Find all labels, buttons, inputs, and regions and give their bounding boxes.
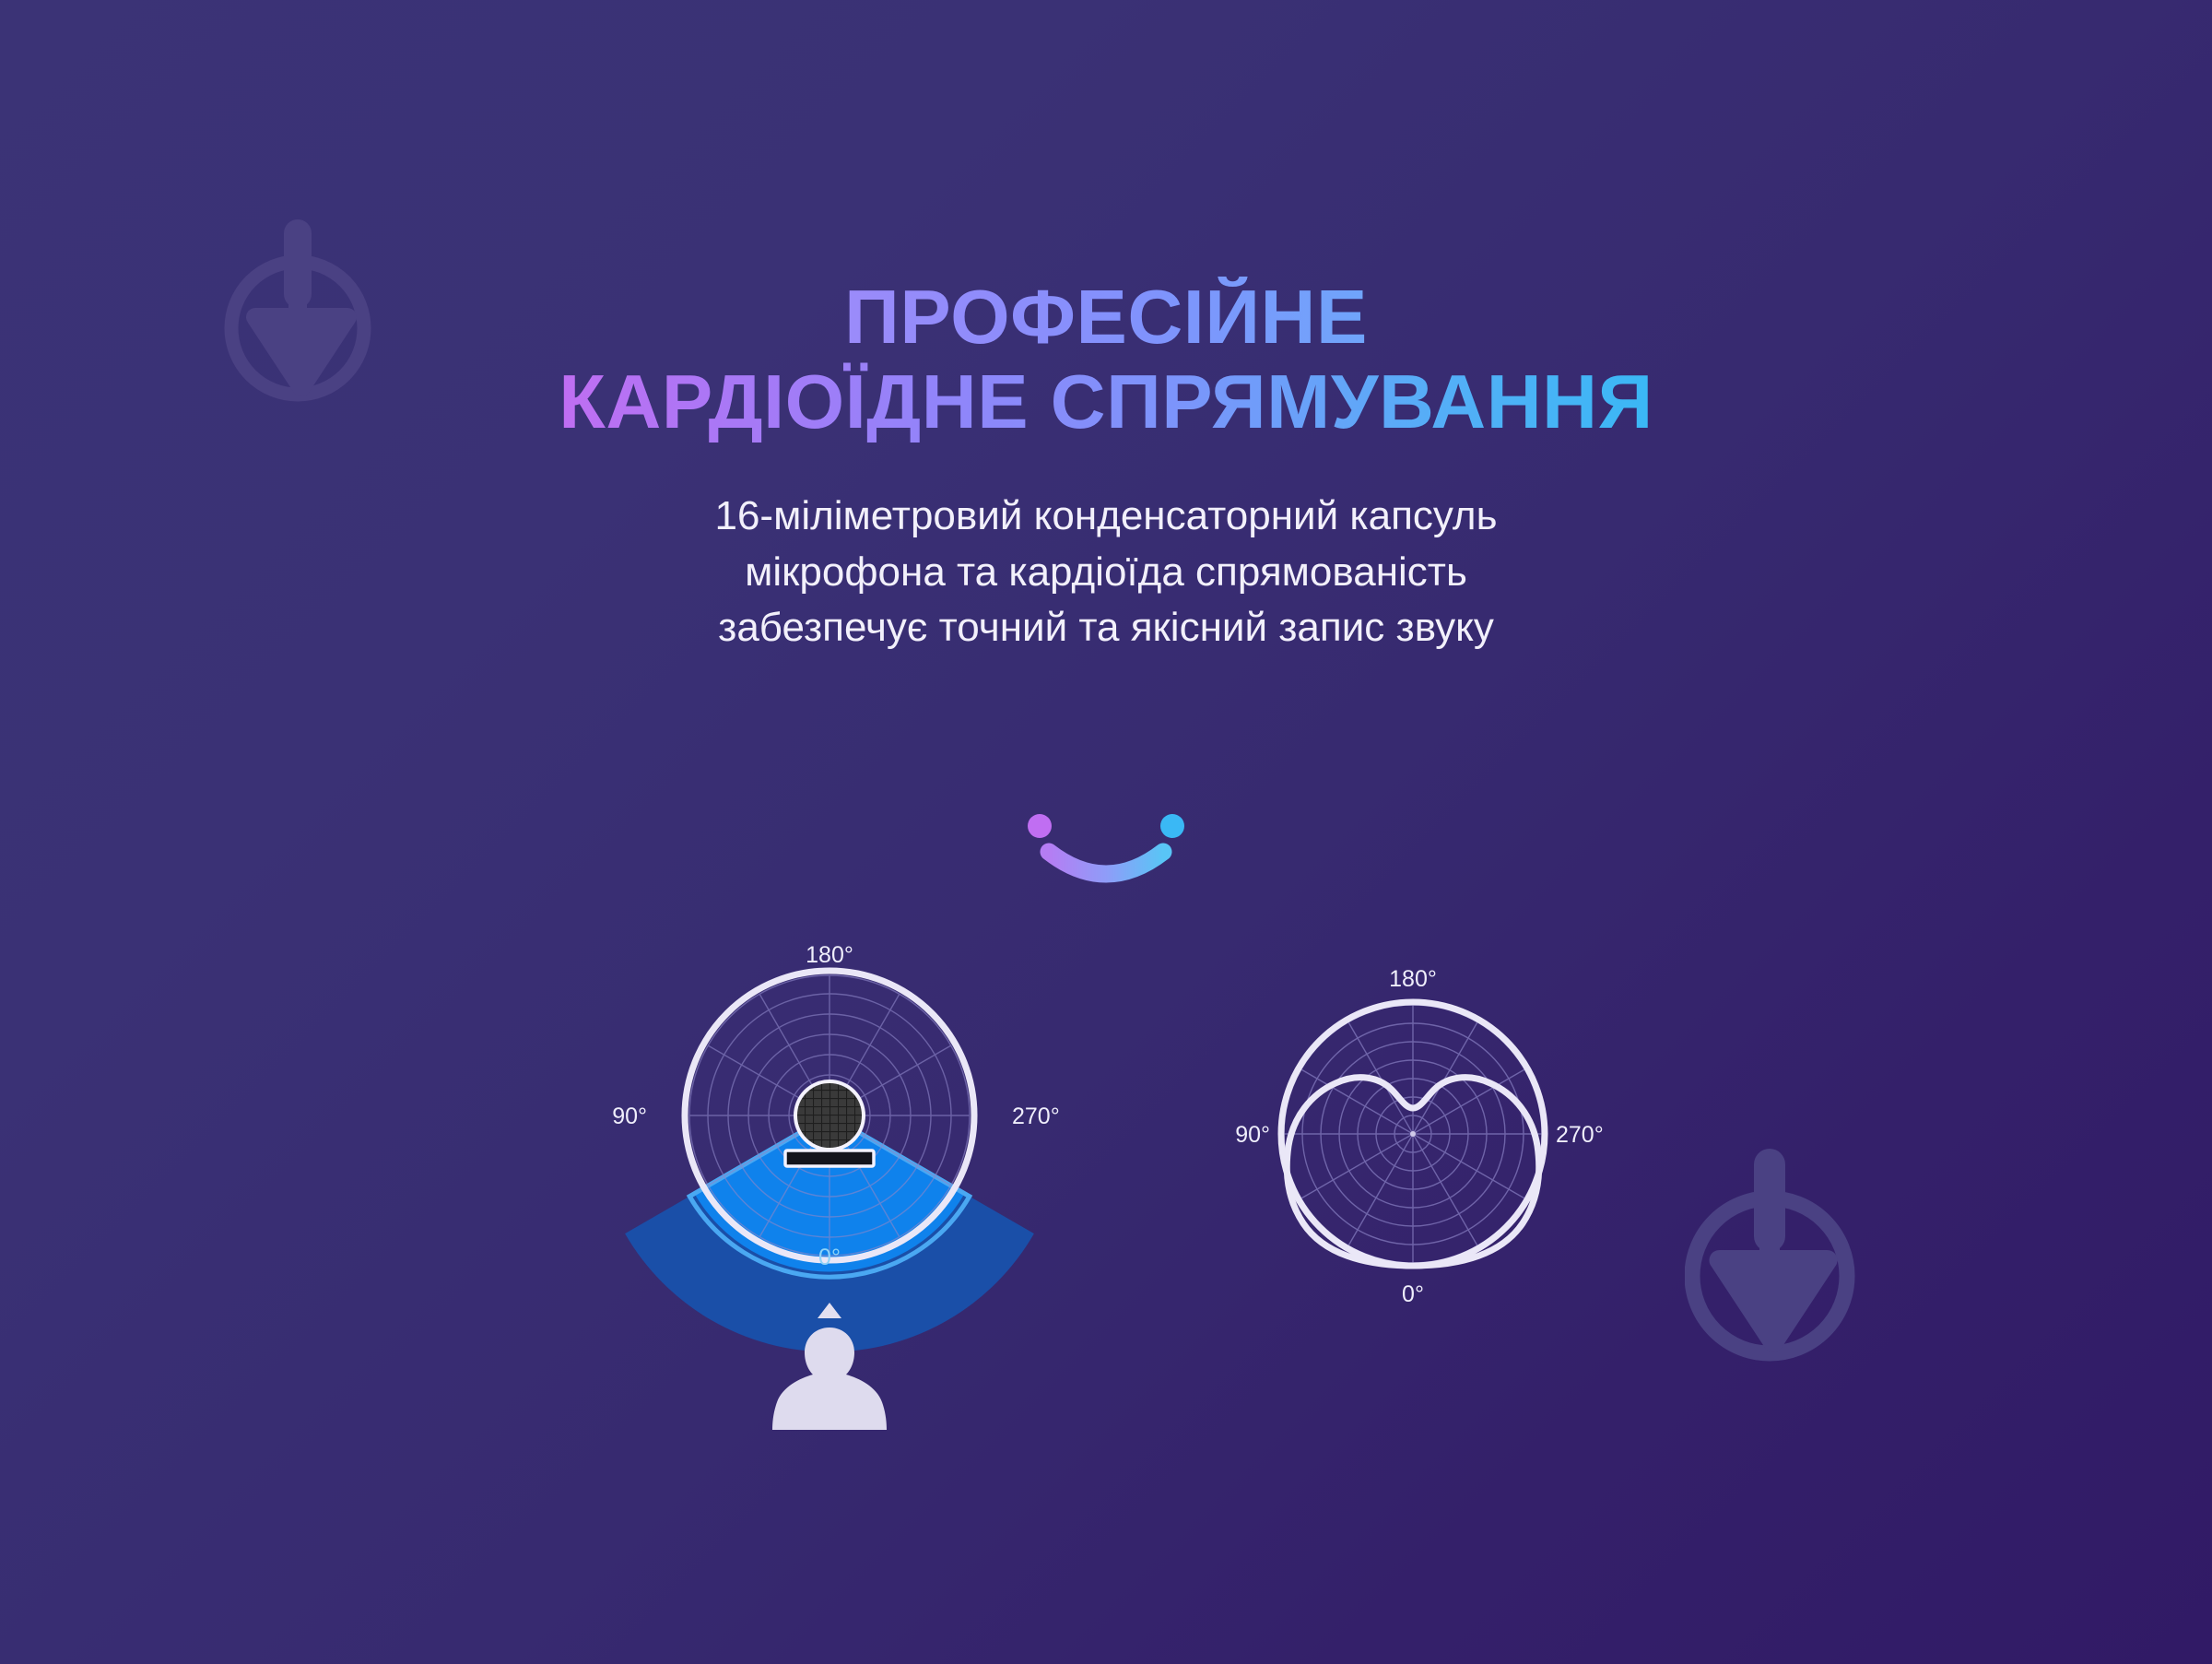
angle-label-0: 0°: [818, 1245, 841, 1270]
polar-center-dot: [1410, 1131, 1416, 1137]
page-subtitle: 16-міліметровий конденсаторний капсуль м…: [714, 489, 1497, 656]
smile-decoration: [0, 811, 2212, 885]
page-title: ПРОФЕСІЙНЕ КАРДІОЇДНЕ СПРЯМУВАННЯ: [559, 277, 1653, 443]
angle-label-180: 180°: [806, 942, 853, 968]
diagram-row: 180° 90° 270° 0°: [0, 940, 2212, 1493]
cardioid-response-diagram: 180° 90° 270° 0°: [1215, 950, 1611, 1341]
page-subtitle-line-2: мікрофона та кардіоїда спрямованість: [714, 545, 1497, 601]
pickup-beam-diagram: 180° 90° 270° 0°: [581, 940, 1078, 1498]
smile-dot-right: [1160, 814, 1184, 838]
smile-arc-path: [1049, 852, 1163, 874]
angle-label-90: 90°: [1235, 1122, 1270, 1148]
page-title-line-1: ПРОФЕСІЙНЕ: [844, 277, 1368, 358]
angle-label-90: 90°: [612, 1103, 647, 1129]
angle-label-0: 0°: [1402, 1281, 1424, 1307]
smile-dot-left: [1028, 814, 1052, 838]
angle-label-270: 270°: [1556, 1122, 1604, 1148]
mic-capsule: [795, 1081, 864, 1150]
angle-label-270: 270°: [1012, 1103, 1060, 1129]
header-block: ПРОФЕСІЙНЕ КАРДІОЇДНЕ СПРЯМУВАННЯ 16-міл…: [0, 277, 2212, 656]
page-subtitle-line-1: 16-міліметровий конденсаторний капсуль: [714, 489, 1497, 545]
angle-label-180: 180°: [1389, 966, 1437, 992]
page-title-line-2: КАРДІОЇДНЕ СПРЯМУВАННЯ: [559, 361, 1653, 443]
page-subtitle-line-3: забезпечує точний та якісний запис звуку: [714, 600, 1497, 656]
capsule-bar: [785, 1151, 874, 1166]
